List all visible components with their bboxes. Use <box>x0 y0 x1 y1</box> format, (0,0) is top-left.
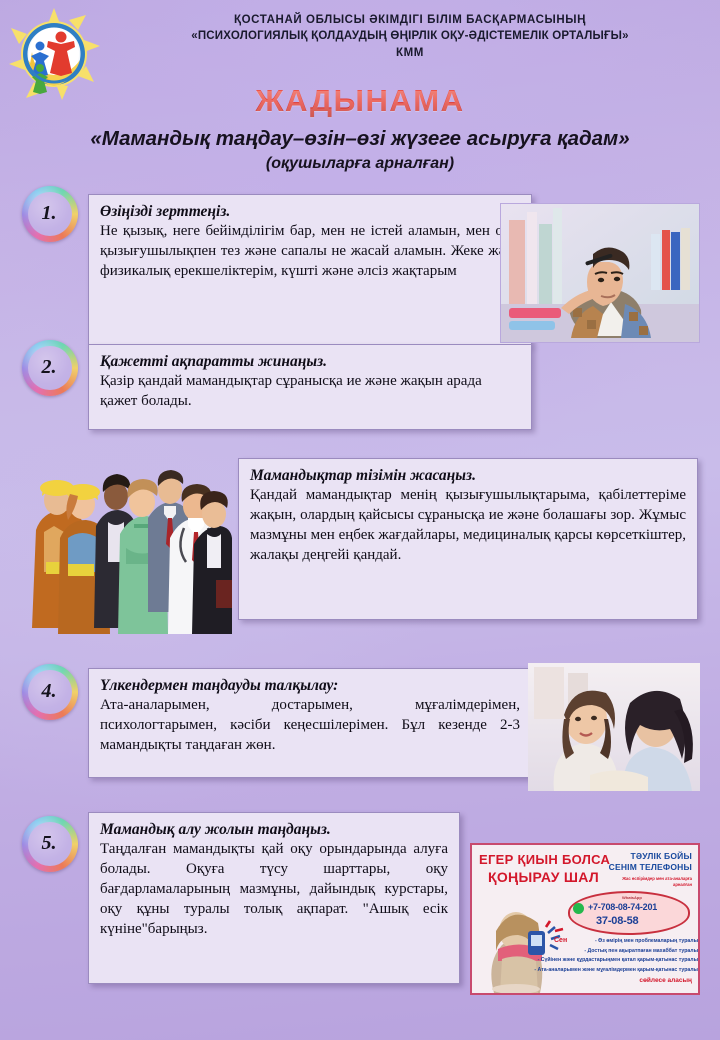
organization-name: ҚОСТАНАЙ ОБЛЫСЫ ӘКІМДІГІ БІЛІМ БАСҚАРМАС… <box>120 12 700 61</box>
page-audience: (оқушыларға арналған) <box>0 155 720 173</box>
step-number-5: 5. <box>22 816 78 872</box>
thoughtful-teen-boy-photo <box>500 203 700 343</box>
poster-header: ҚОСТАНАЙ ОБЛЫСЫ ӘКІМДІГІ БІЛІМ БАСҚАРМАС… <box>0 0 720 180</box>
memo-poster: ҚОСТАНАЙ ОБЛЫСЫ ӘКІМДІГІ БІЛІМ БАСҚАРМАС… <box>0 0 720 1040</box>
phone-number-bubble: WhatsApp +7-708-08-74-201 37-08-58 <box>568 891 690 935</box>
step-number-3-label: 3. <box>42 514 57 537</box>
flyer-closing-line: сөйлесе аласың <box>639 977 692 984</box>
step-card-2: Қажетті ақпаратты жинаңыз. Қазір қандай … <box>88 344 532 430</box>
page-subtitle: «Мамандық таңдау–өзін–өзі жүзеге асыруға… <box>0 127 720 151</box>
step-4-body: Ата-аналарымен, достарымен, мұғалімдерім… <box>100 696 520 755</box>
step-3-body: Қандай мамандықтар менің қызығушылықтары… <box>250 486 686 565</box>
step-number-4: 4. <box>22 664 78 720</box>
step-card-5: Мамандық алу жолын таңдаңыз. Таңдалған м… <box>88 812 460 984</box>
step-card-4: Үлкендермен таңдауды талқылау: Ата-анала… <box>88 668 532 778</box>
org-line-2: «ПСИХОЛОГИЯЛЫҚ ҚОЛДАУДЫҢ ӨҢІРЛІК ОҚУ-ӘДІ… <box>120 28 700 44</box>
step-number-4-label: 4. <box>42 680 57 703</box>
flyer-title-line-1: ЕГЕР ҚИЫН БОЛСА <box>479 852 610 867</box>
whatsapp-icon <box>573 903 584 914</box>
page-title: ЖАДЫНАМА <box>0 83 720 119</box>
flyer-hotline-line-1: ТӘУЛІК БОЙЫ <box>609 851 692 862</box>
step-card-3: Мамандықтар тізімін жасаңыз. Қандай мама… <box>238 458 698 620</box>
step-4-heading: Үлкендермен таңдауды талқылау: <box>100 676 520 695</box>
flyer-hotline-subtext: Жас өспірімдер мен ата-аналарға арналған <box>606 876 692 889</box>
flyer-phone-2: 37-08-58 <box>596 915 638 927</box>
flyer-hotline-line-2: СЕНІМ ТЕЛЕФОНЫ <box>609 862 692 873</box>
whatsapp-label: WhatsApp <box>622 895 642 900</box>
step-1-heading: Өзіңізді зерттеңіз. <box>100 202 520 221</box>
step-2-heading: Қажетті ақпаратты жинаңыз. <box>100 352 520 371</box>
list-item: - Ата-аналарымен және мұғалімдермен қары… <box>502 966 698 976</box>
step-3-heading: Мамандықтар тізімін жасаңыз. <box>250 466 686 485</box>
flyer-title-line-2: ҚОҢЫРАУ ШАЛ <box>488 869 599 885</box>
step-number-5-label: 5. <box>42 832 57 855</box>
step-number-1: 1. <box>22 186 78 242</box>
step-2-body: Қазір қандай мамандықтар сұранысқа ие жә… <box>100 372 520 412</box>
step-number-2: 2. <box>22 340 78 396</box>
org-line-1: ҚОСТАНАЙ ОБЛЫСЫ ӘКІМДІГІ БІЛІМ БАСҚАРМАС… <box>120 12 700 28</box>
step-1-body: Не қызық, неге бейімділігім бар, мен не … <box>100 222 520 281</box>
flyer-phone-1: +7-708-08-74-201 <box>588 902 657 912</box>
step-card-1: Өзіңізді зерттеңіз. Не қызық, неге бейім… <box>88 194 532 346</box>
step-5-heading: Мамандық алу жолын таңдаңыз. <box>100 820 448 839</box>
trust-hotline-flyer: ЕГЕР ҚИЫН БОЛСА ҚОҢЫРАУ ШАЛ ТӘУЛІК БОЙЫ … <box>470 843 700 995</box>
list-item: - Достық пен ақыратпаған махаббат туралы <box>502 947 698 957</box>
step-5-body: Таңдалған мамандықты қай оқу орындарында… <box>100 840 448 939</box>
org-line-3: КММ <box>120 45 700 61</box>
list-item: - Сүйінен және құрдастарыңмен қатал қары… <box>502 956 698 966</box>
two-girls-talking-photo <box>528 663 700 791</box>
step-number-1-label: 1. <box>42 202 57 225</box>
flyer-hotline-label: ТӘУЛІК БОЙЫ СЕНІМ ТЕЛЕФОНЫ <box>609 851 692 874</box>
step-number-2-label: 2. <box>42 356 57 379</box>
flyer-bullet-list: - Өз өмірің мен проблемаларың туралы - Д… <box>502 937 698 976</box>
list-item: - Өз өмірің мен проблемаларың туралы <box>502 937 698 947</box>
